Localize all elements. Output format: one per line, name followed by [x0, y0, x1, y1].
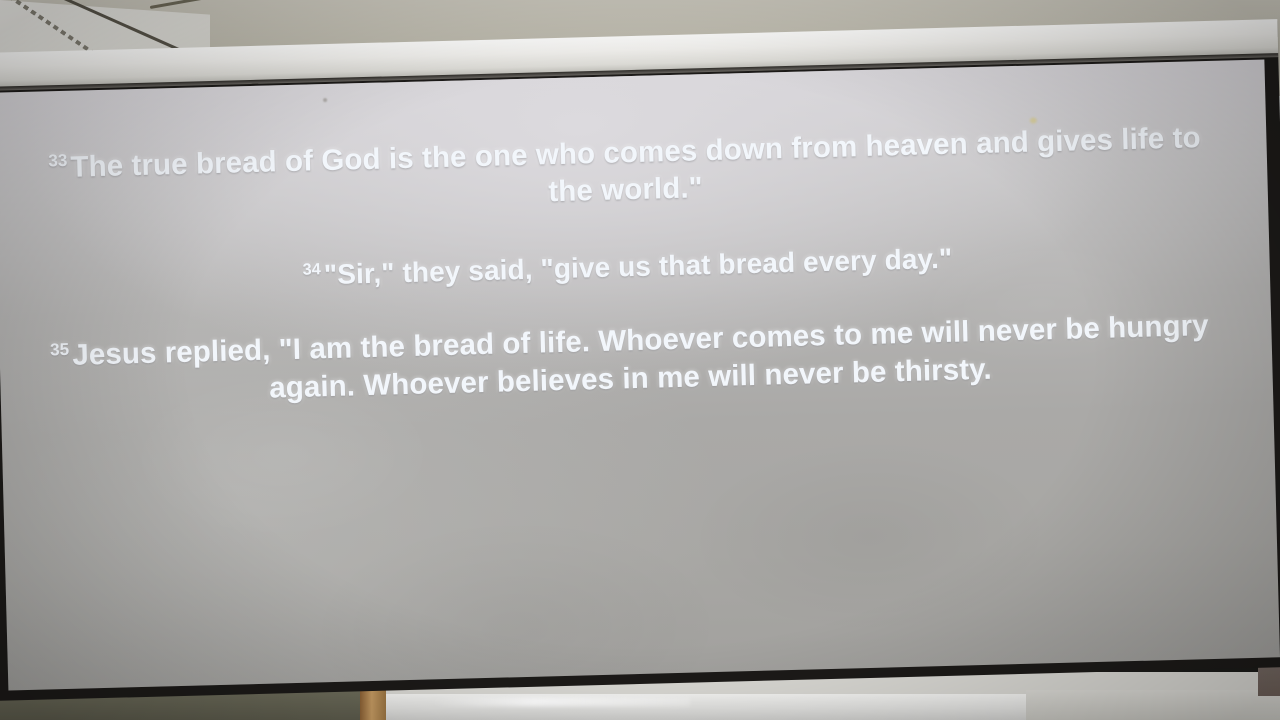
- verse-number-35: 35: [50, 339, 70, 358]
- wall-lower-right: [1026, 690, 1280, 720]
- verse-text-34: "Sir," they said, "give us that bread ev…: [323, 243, 952, 290]
- projection-surface: 33The true bread of God is the one who c…: [0, 59, 1280, 690]
- verse-text-35: Jesus replied, "I am the bread of life. …: [72, 309, 1209, 404]
- screenshot-root: 33The true bread of God is the one who c…: [0, 0, 1280, 720]
- verse-33: 33The true bread of God is the one who c…: [44, 119, 1206, 224]
- dust-speck-secondary-icon: [323, 98, 327, 102]
- whiteboard-glare: [430, 697, 690, 706]
- verse-34: 34"Sir," they said, "give us that bread …: [47, 234, 1208, 300]
- verse-text-33: The true bread of God is the one who com…: [70, 121, 1201, 209]
- verse-35: 35Jesus replied, "I am the bread of life…: [49, 307, 1211, 412]
- door-frame: [360, 690, 386, 720]
- verse-number-33: 33: [48, 151, 68, 170]
- slide-text-block: 33The true bread of God is the one who c…: [44, 119, 1210, 413]
- ceiling-cable-secondary: [150, 0, 269, 9]
- verse-number-34: 34: [302, 260, 321, 278]
- projector-screen-assembly: 33The true bread of God is the one who c…: [0, 19, 1280, 701]
